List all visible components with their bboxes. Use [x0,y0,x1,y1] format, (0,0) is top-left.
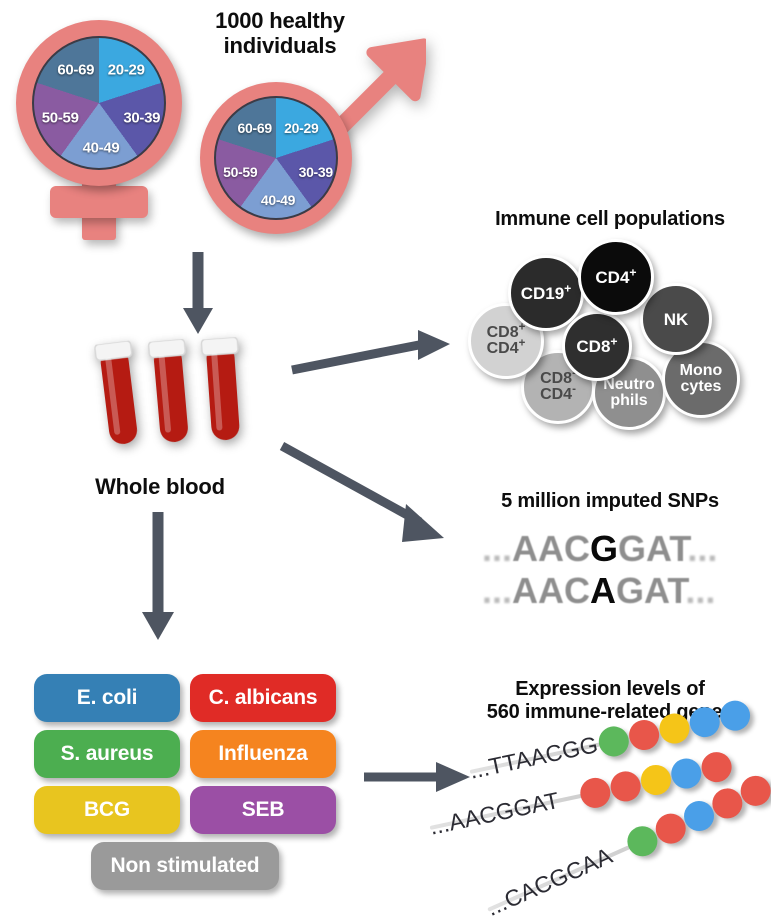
stimulation-pill-label: SEB [242,798,285,822]
snp-sequence-row: ...AACAGAT... [482,570,715,612]
gene-expression-strands: ...TTAACGG...AACGGAT...CACGCAA [430,730,771,920]
arrow-blood-to-stimulation [138,512,178,642]
gene-bead [717,698,753,734]
immune-cell-bubble-label: CD8+CD4+ [487,325,526,357]
snp-left-bases: AAC [512,570,590,611]
immune-cell-bubble[interactable]: CD4+ [578,239,654,315]
stimulation-pill[interactable]: E. coli [34,674,180,722]
stimulation-pill[interactable]: SEB [190,786,336,834]
snp-right-bases: GAT [618,528,687,569]
snp-prefix-ellipsis: ... [482,570,512,611]
immune-cell-bubble-label: Monocytes [680,363,723,395]
gene-bead [608,769,644,805]
snp-suffix-ellipsis: ... [687,528,717,569]
immune-cell-bubble[interactable]: CD8+ [562,311,632,381]
gene-bead [638,762,674,798]
stimulation-pill-label: BCG [84,798,130,822]
immune-cell-bubble-label: CD4+ [595,269,636,286]
stimulation-pill[interactable]: Non stimulated [91,842,279,890]
snp-right-bases: GAT [616,570,685,611]
stimulation-pill-label: Influenza [218,742,307,766]
gene-bead [668,756,704,792]
stimulation-pill[interactable]: C. albicans [190,674,336,722]
strand-sequence-text: ...CACGCAA [482,842,616,922]
immune-cell-bubble-label: NK [664,311,689,328]
stimulation-pill-label: E. coli [77,686,137,710]
stimulation-pill[interactable]: BCG [34,786,180,834]
snps-title: 5 million imputed SNPs [460,490,760,513]
whole-blood-label: Whole blood [60,474,260,499]
snp-sequences: ...AACGGAT......AACAGAT... [482,528,762,618]
snp-sequence-row: ...AACGGAT... [482,528,717,570]
stimulation-pill-label: Non stimulated [111,854,260,878]
stimulation-conditions: E. coliC. albicansS. aureusInfluenzaBCGS… [34,674,344,894]
immune-cell-bubble-label: CD8-CD4- [540,371,576,403]
stimulation-pill[interactable]: Influenza [190,730,336,778]
immune-cell-bubble[interactable]: NK [640,283,712,355]
snp-variant-base: G [590,528,618,569]
snp-left-bases: AAC [512,528,590,569]
gene-bead [626,717,662,753]
stimulation-pill[interactable]: S. aureus [34,730,180,778]
arrow-blood-to-snps [278,442,458,552]
gene-bead [687,704,723,740]
snp-variant-base: A [590,570,616,611]
strand-sequence-text: ...AACGGAT [427,787,562,841]
immune-cell-bubble-label: Neutrophils [603,377,655,409]
immune-cell-bubble-label: CD8+ [576,338,617,355]
stimulation-pill-label: C. albicans [209,686,318,710]
figure-canvas: 1000 healthy individuals 20-2930-3940-49… [0,0,771,922]
immune-cell-bubble-cluster: CD19+CD4+CD8+NKCD8+CD4+CD8-CD4-Neutrophi… [0,0,771,450]
gene-bead [578,775,614,811]
gene-bead [596,724,632,760]
snp-suffix-ellipsis: ... [685,570,715,611]
gene-bead [657,711,693,747]
immune-cell-bubble-label: CD19+ [521,285,572,302]
stimulation-pill-label: S. aureus [61,742,154,766]
snp-prefix-ellipsis: ... [482,528,512,569]
